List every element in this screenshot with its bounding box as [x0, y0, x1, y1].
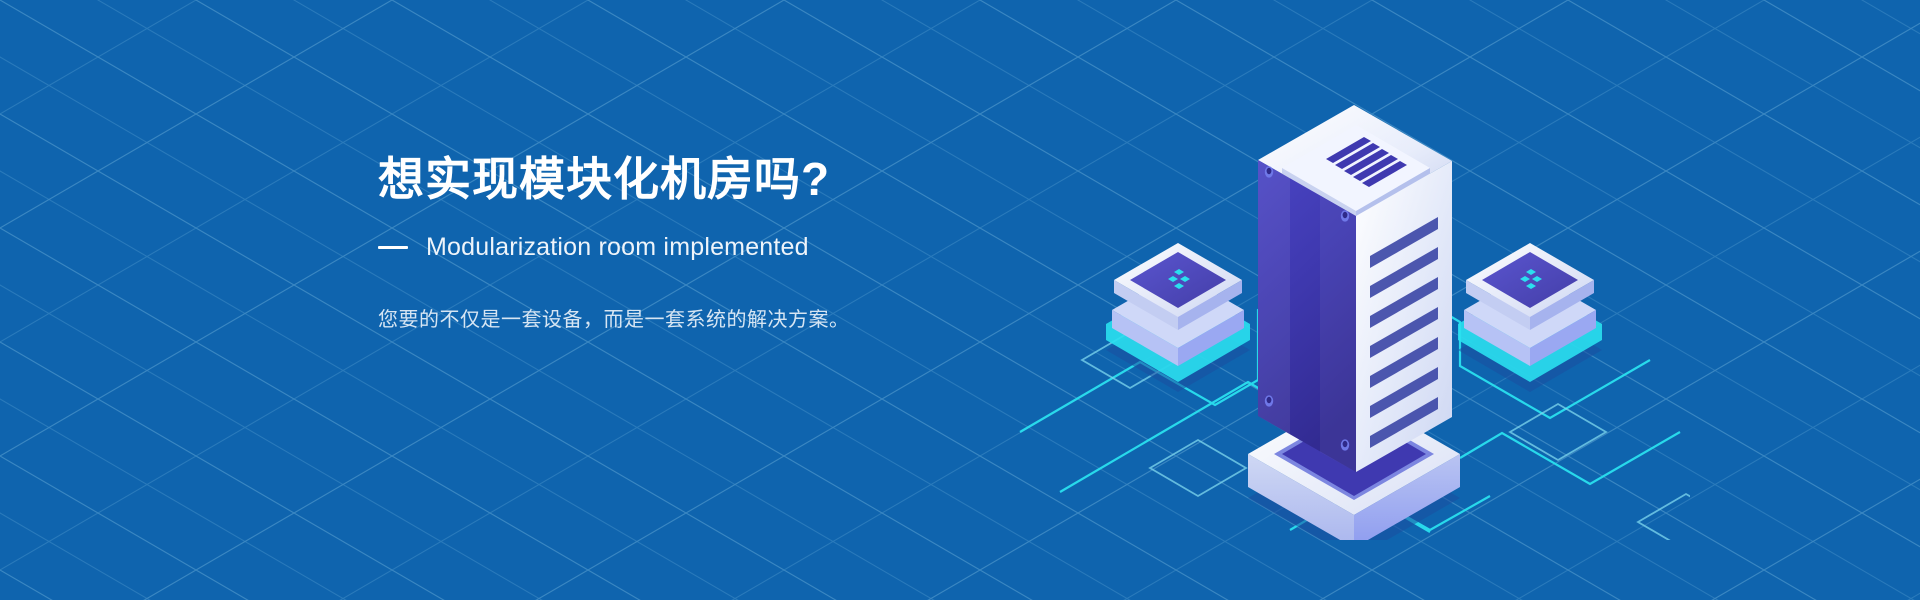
subtitle: Modularization room implemented [426, 232, 809, 262]
hero-banner: 想实现模块化机房吗? Modularization room implement… [0, 0, 1920, 600]
server-rack [1258, 105, 1452, 472]
isometric-server-room-illustration [990, 60, 1690, 540]
dash-divider-icon [378, 246, 408, 249]
